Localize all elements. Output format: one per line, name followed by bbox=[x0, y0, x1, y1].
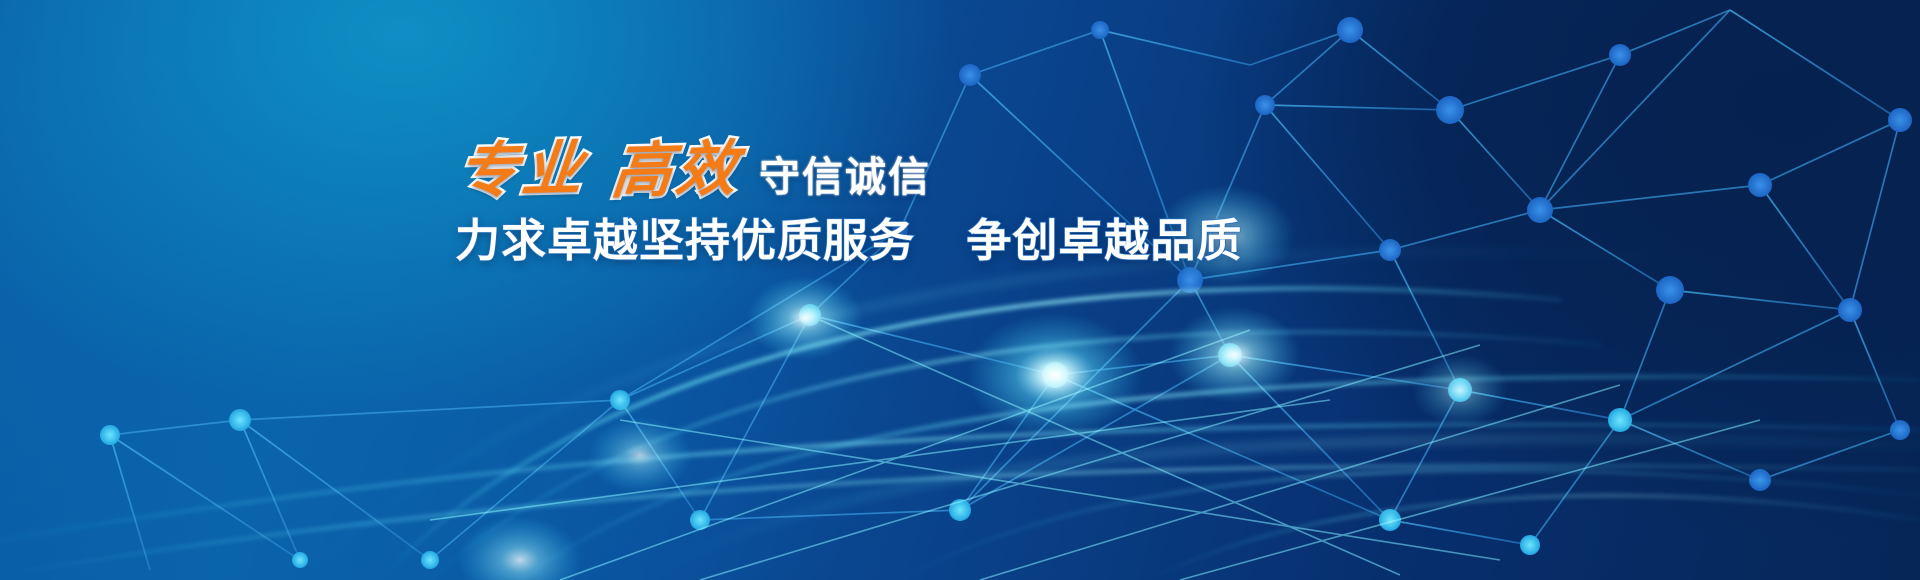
headline-white-phrase: 守信诚信 bbox=[759, 157, 931, 202]
headline-line-2: 力求卓越坚持优质服务 争创卓越品质 bbox=[455, 216, 1175, 266]
subline-right: 争创卓越品质 bbox=[966, 214, 1242, 267]
headline-line-1: 专业 高效 守信诚信 bbox=[455, 134, 1175, 202]
brush-word-zhuanye: 专业 bbox=[455, 139, 589, 202]
brush-word-gaoxiao: 高效 bbox=[609, 139, 743, 202]
light-burst-nodes bbox=[0, 0, 1920, 580]
headline-text-block: 专业 高效 守信诚信 力求卓越坚持优质服务 争创卓越品质 bbox=[455, 134, 1175, 266]
hero-banner: 专业 高效 守信诚信 力求卓越坚持优质服务 争创卓越品质 bbox=[0, 0, 1920, 580]
subline-left: 力求卓越坚持优质服务 bbox=[455, 214, 915, 267]
